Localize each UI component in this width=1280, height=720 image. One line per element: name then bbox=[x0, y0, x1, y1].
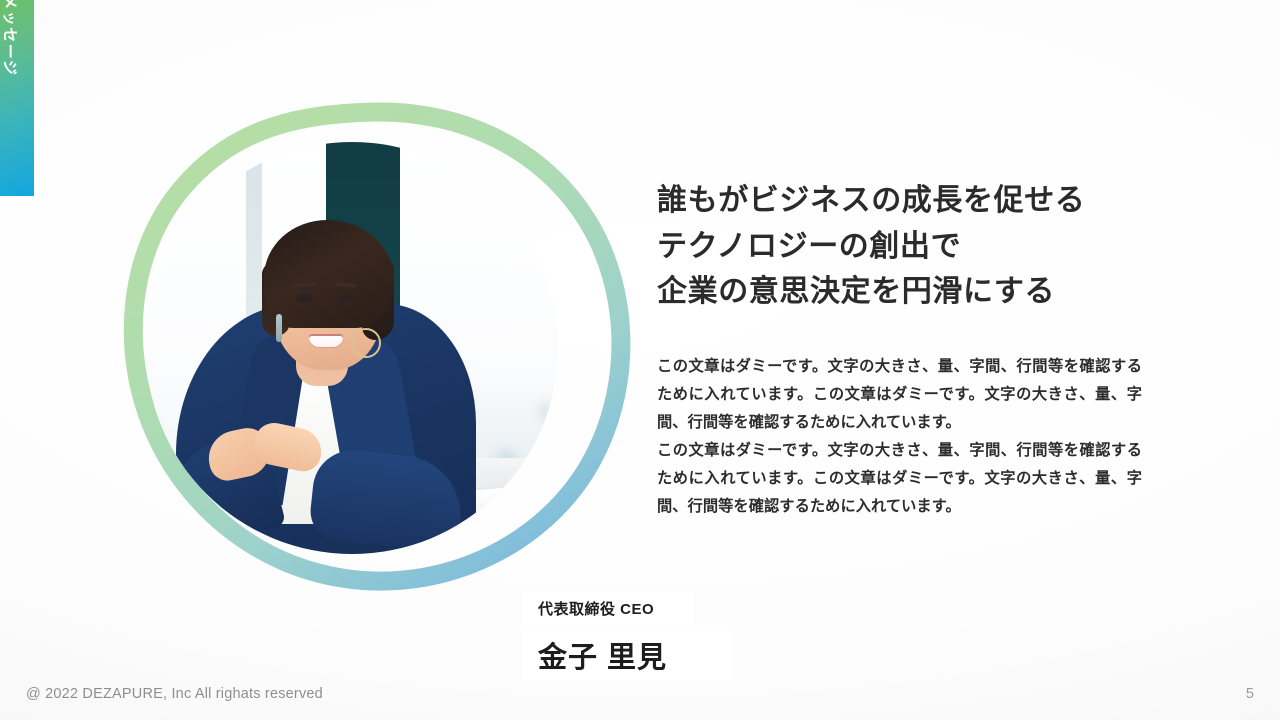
photo-eye-left bbox=[296, 294, 313, 302]
headline-line-3: 企業の意思決定を円滑にする bbox=[657, 269, 1142, 315]
person-role-card: 代表取締役 CEO bbox=[522, 592, 694, 624]
headline-line-2: テクノロジーの創出で bbox=[657, 224, 1142, 270]
headline: 誰もがビジネスの成長を促せる テクノロジーの創出で 企業の意思決定を円滑にする bbox=[657, 178, 1142, 315]
person-role-label: 代表取締役 CEO bbox=[538, 598, 654, 619]
body-paragraph-1: この文章はダミーです。文字の大きさ、量、字間、行間等を確認するために入れています… bbox=[657, 353, 1142, 437]
copyright-note: @ 2022 DEZAPURE, Inc All righats reserve… bbox=[26, 686, 323, 702]
photo-smile bbox=[309, 334, 343, 347]
ceo-portrait-photo bbox=[146, 142, 558, 554]
body-paragraph-2: この文章はダミーです。文字の大きさ、量、字間、行間等を確認するために入れています… bbox=[657, 437, 1142, 521]
ceo-photo-group: 代表取締役 CEO 金子 里見 bbox=[112, 100, 642, 600]
slide-canvas: CEO メッセージ bbox=[0, 0, 1280, 720]
photo-hoop-earring bbox=[351, 328, 381, 358]
page-number: 5 bbox=[1246, 686, 1254, 702]
headline-line-1: 誰もがビジネスの成長を促せる bbox=[657, 178, 1142, 224]
section-tab: CEO メッセージ bbox=[0, 0, 34, 196]
person-name-card: 金子 里見 bbox=[522, 630, 732, 680]
person-name-label: 金子 里見 bbox=[538, 634, 667, 676]
portrait-illustration bbox=[146, 142, 558, 554]
photo-drop-earring bbox=[276, 314, 282, 342]
section-tab-label: CEO メッセージ bbox=[2, 0, 17, 76]
photo-eye-right bbox=[338, 294, 355, 302]
message-text-column: 誰もがビジネスの成長を促せる テクノロジーの創出で 企業の意思決定を円滑にする … bbox=[657, 178, 1142, 522]
body-copy: この文章はダミーです。文字の大きさ、量、字間、行間等を確認するために入れています… bbox=[657, 353, 1142, 522]
